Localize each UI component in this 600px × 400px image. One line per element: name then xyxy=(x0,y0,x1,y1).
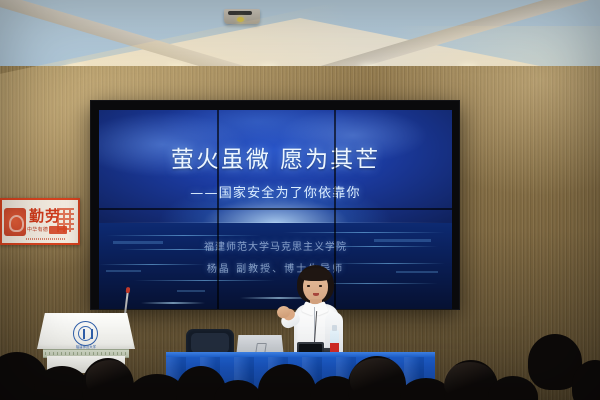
audience-hair-sheen xyxy=(444,362,496,400)
video-wall-seam xyxy=(217,110,219,309)
slide-title: 萤火虽微 愿为其芒 xyxy=(99,140,452,174)
video-wall-seam xyxy=(99,208,452,210)
poster-sub-text: 中华有德 xyxy=(27,226,48,233)
presenter-fringe xyxy=(300,268,331,281)
slide-subtitle: ——国家安全为了你依靠你 xyxy=(99,182,452,201)
presentation-slide: 萤火虽微 愿为其芒 ——国家安全为了你依靠你 福建师范大学马克思主义学院 杨晶 … xyxy=(99,110,452,309)
wall-poster: 勤劳 中华有德 xyxy=(0,198,80,245)
audience-hair-sheen xyxy=(86,360,134,396)
presenter-eye xyxy=(319,285,322,287)
audience-hair-sheen xyxy=(350,358,406,398)
seal-icon xyxy=(4,208,26,236)
presenter-mouth xyxy=(313,293,319,296)
presenter-eye xyxy=(307,285,310,287)
lecture-hall-photo: 勤劳 中华有德 xyxy=(0,0,600,400)
university-emblem-icon xyxy=(73,321,98,346)
video-wall: 萤火虽微 愿为其芒 ——国家安全为了你依靠你 福建师范大学马克思主义学院 杨晶 … xyxy=(90,100,460,310)
poster-grid-pattern xyxy=(57,208,74,232)
poster-footer-line xyxy=(26,238,66,240)
video-wall-display: 萤火虽微 愿为其芒 ——国家安全为了你依靠你 福建师范大学马克思主义学院 杨晶 … xyxy=(99,110,452,309)
slide-organization: 福建师范大学马克思主义学院 xyxy=(99,238,452,253)
slide-presenter: 杨晶 副教授、博士生导师 xyxy=(99,260,452,275)
